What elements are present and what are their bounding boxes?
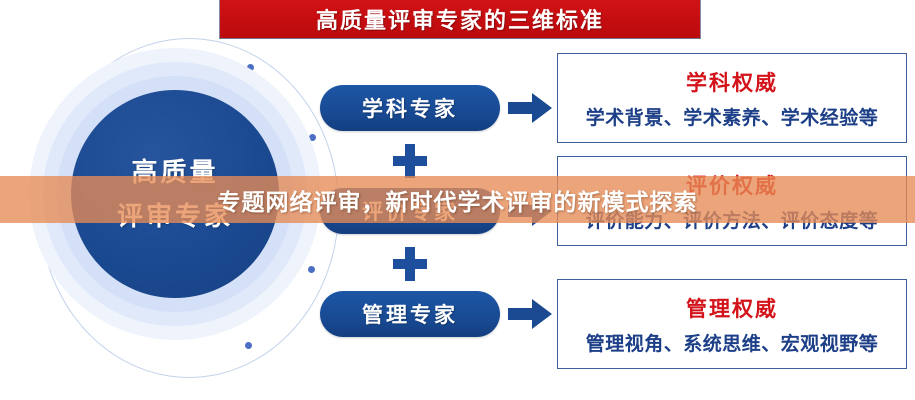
orbit-dot [245, 342, 252, 349]
plus-icon [393, 247, 427, 281]
right-arrow-icon [508, 93, 552, 123]
pill-subject-expert[interactable]: 学科专家 [320, 85, 500, 131]
right-arrow-icon [508, 299, 552, 329]
infobox-title: 管理权威 [686, 293, 778, 323]
infobox-management-authority: 管理权威 管理视角、系统思维、宏观视野等 [557, 279, 907, 369]
pill-label: 学科专家 [362, 93, 458, 123]
page-title: 高质量评审专家的三维标准 [316, 3, 604, 35]
infographic-canvas: 高质量评审专家的三维标准 高质量 评审专家 学科专家 评价专家 管理专家 [0, 0, 915, 400]
orbit-dot [308, 266, 315, 273]
infobox-title: 学科权威 [686, 67, 778, 97]
infobox-subtitle: 学术背景、学术素养、学术经验等 [586, 103, 879, 130]
infobox-subject-authority: 学科权威 学术背景、学术素养、学术经验等 [557, 53, 907, 143]
infobox-subtitle: 管理视角、系统思维、宏观视野等 [586, 329, 879, 356]
plus-icon [393, 144, 427, 178]
pill-management-expert[interactable]: 管理专家 [320, 291, 500, 337]
pill-label: 管理专家 [362, 299, 458, 329]
caption-text: 专题网络评审，新时代学术评审的新模式探索 [0, 176, 915, 223]
header-bar: 高质量评审专家的三维标准 [219, 0, 701, 39]
